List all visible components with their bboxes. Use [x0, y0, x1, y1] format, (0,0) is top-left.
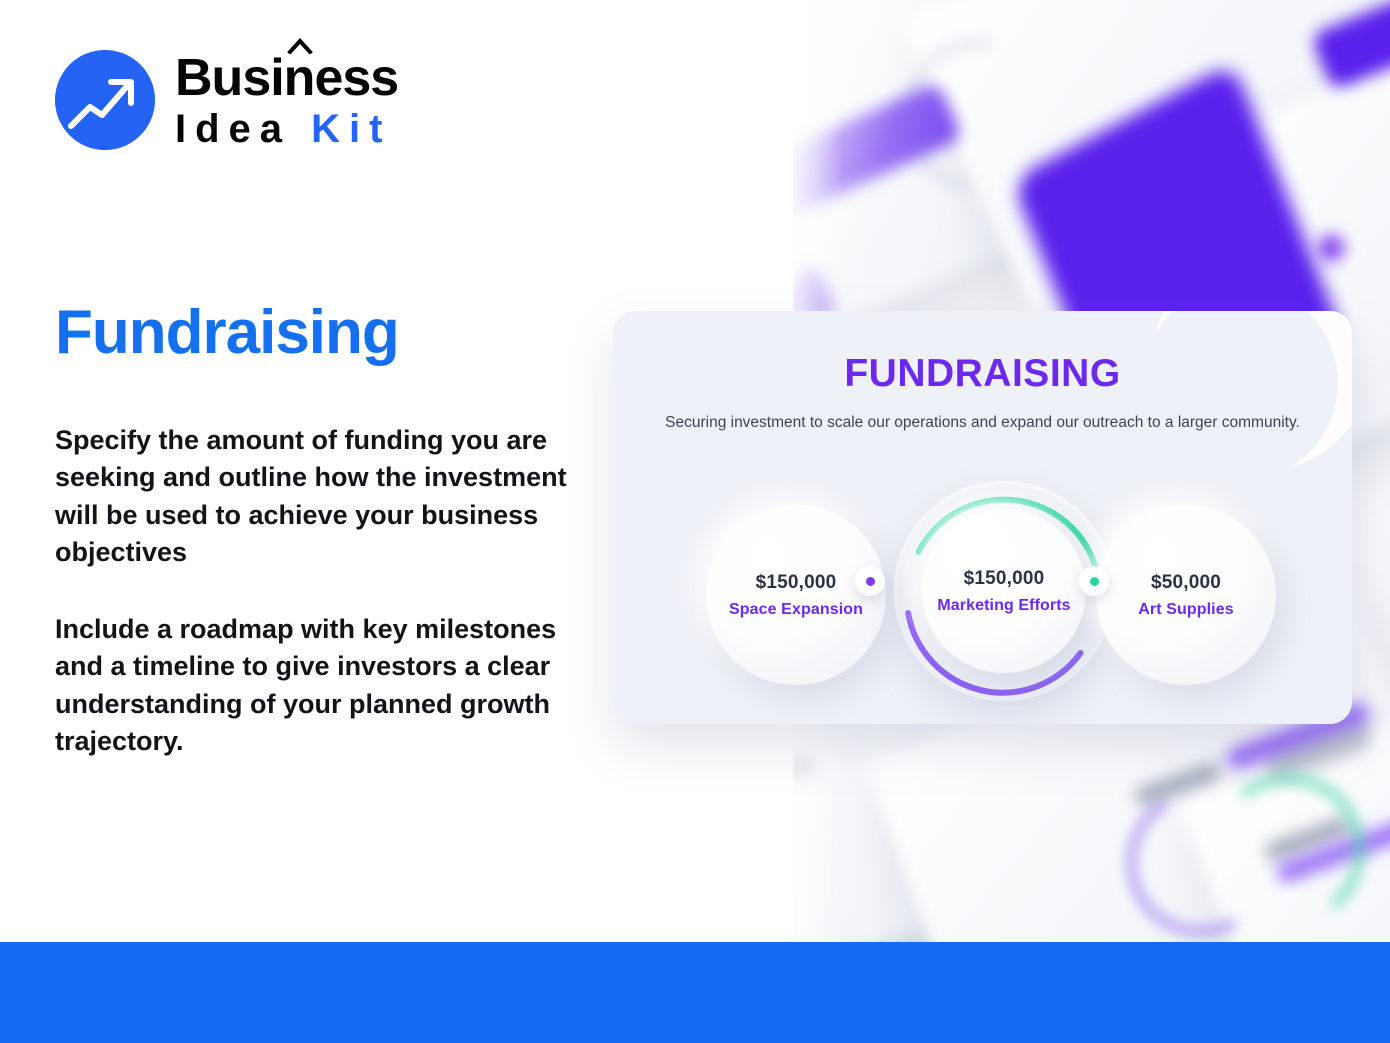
slide-page: Business Idea Kit Fundraising Specify th… — [0, 0, 1390, 1043]
brand-logo: Business Idea Kit — [55, 50, 398, 150]
body-paragraph-1: Specify the amount of funding you are se… — [55, 422, 575, 571]
funding-label: Marketing Efforts — [937, 597, 1070, 615]
brand-name-kit: Kit — [311, 107, 391, 151]
footer-bar — [0, 942, 1390, 1043]
funding-circle-right: $50,000 Art Supplies — [1096, 505, 1276, 685]
funding-amount: $150,000 — [964, 568, 1045, 590]
brand-name-line1-text: Business — [175, 49, 398, 107]
brand-wordmark: Business Idea Kit — [175, 52, 398, 149]
funding-circle-left: $150,000 Space Expansion — [706, 505, 886, 685]
right-connector-dot — [1090, 577, 1099, 586]
left-connector-dot — [866, 577, 875, 586]
page-title: Fundraising — [55, 297, 399, 368]
brand-name-idea: Idea — [175, 107, 291, 151]
funding-amount: $150,000 — [756, 572, 837, 594]
right-connector-node — [1079, 566, 1109, 596]
circumflex-accent-icon — [287, 38, 313, 54]
brand-name-line2: Idea Kit — [175, 109, 398, 149]
funding-label: Art Supplies — [1138, 601, 1233, 619]
body-paragraph-2: Include a roadmap with key milestones an… — [55, 611, 575, 760]
brand-name-line1: Business — [175, 52, 398, 104]
fundraising-preview-card: FUNDRAISING Securing investment to scale… — [613, 311, 1352, 724]
funding-allocation-diagram: $150,000 Space Expansion $150,000 Market… — [613, 471, 1352, 724]
card-subtitle: Securing investment to scale our operati… — [613, 412, 1352, 434]
funding-label: Space Expansion — [729, 601, 863, 619]
growth-arrow-circle-icon — [55, 50, 155, 150]
funding-amount: $50,000 — [1151, 572, 1221, 594]
card-title: FUNDRAISING — [613, 352, 1352, 396]
mockup-dot — [1318, 235, 1344, 261]
funding-circle-center: $150,000 Marketing Efforts — [922, 509, 1086, 673]
left-connector-node — [855, 566, 885, 596]
